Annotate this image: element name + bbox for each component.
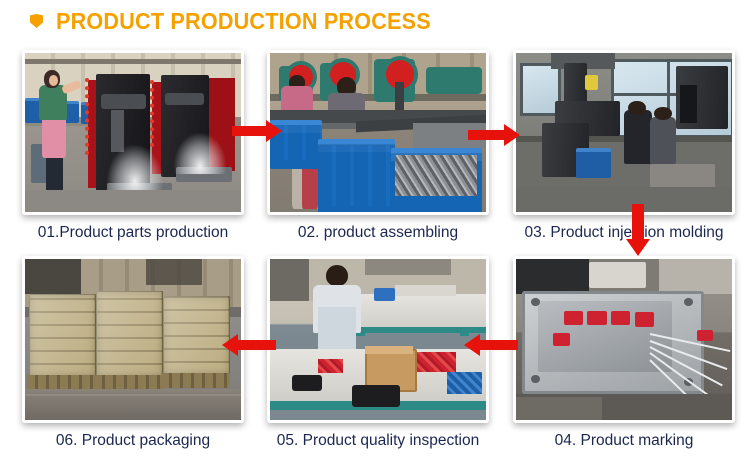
step-photo-03 bbox=[513, 50, 735, 215]
step-card-04[interactable] bbox=[513, 256, 735, 423]
step-card-06[interactable] bbox=[22, 256, 244, 423]
step-caption-01: 01.Product parts production bbox=[22, 224, 244, 242]
step-card-03[interactable] bbox=[513, 50, 735, 215]
page-title: PRODUCT PRODUCTION PROCESS bbox=[56, 8, 431, 35]
scene-product-packaging bbox=[25, 259, 241, 420]
step-card-05[interactable] bbox=[267, 256, 489, 423]
step-photo-05 bbox=[267, 256, 489, 423]
step-photo-02 bbox=[267, 50, 489, 215]
step-caption-06: 06. Product packaging bbox=[22, 432, 244, 450]
scene-quality-inspection bbox=[270, 259, 486, 420]
arrow-step1-to-step2 bbox=[232, 120, 282, 142]
scene-product-marking bbox=[516, 259, 732, 420]
scene-injection-molding bbox=[516, 53, 732, 212]
step-photo-04 bbox=[513, 256, 735, 423]
step-caption-03: 03. Product injection molding bbox=[513, 224, 735, 242]
step-card-01[interactable] bbox=[22, 50, 244, 215]
header: PRODUCT PRODUCTION PROCESS bbox=[0, 0, 750, 42]
step-card-02[interactable] bbox=[267, 50, 489, 215]
scene-product-assembling bbox=[270, 53, 486, 212]
arrow-step3-to-step4 bbox=[626, 204, 650, 256]
arrow-step4-to-step5 bbox=[464, 334, 518, 356]
shield-bullet-icon bbox=[30, 14, 43, 28]
step-caption-05: 05. Product quality inspection bbox=[267, 432, 489, 450]
product-process-infographic: PRODUCT PRODUCTION PROCESS bbox=[0, 0, 750, 470]
arrow-step5-to-step6 bbox=[222, 334, 276, 356]
step-photo-01 bbox=[22, 50, 244, 215]
scene-parts-production bbox=[25, 53, 241, 212]
arrow-step2-to-step3 bbox=[468, 124, 520, 146]
step-caption-02: 02. product assembling bbox=[267, 224, 489, 242]
step-photo-06 bbox=[22, 256, 244, 423]
step-caption-04: 04. Product marking bbox=[513, 432, 735, 450]
